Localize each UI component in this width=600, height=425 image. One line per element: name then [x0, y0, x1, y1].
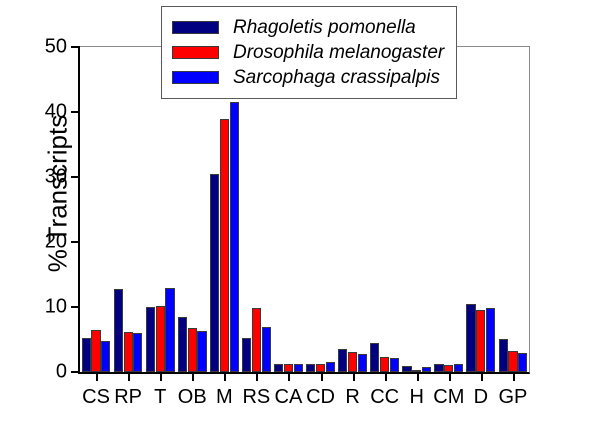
bar [508, 351, 517, 372]
bar [146, 307, 155, 372]
x-tick-label: RS [242, 386, 270, 409]
bar [454, 364, 463, 372]
x-tick-label: CA [275, 386, 303, 409]
bar-chart-figure: % Transcripts 01020304050 CSRPTOBMRSCACD… [0, 0, 600, 425]
x-tick-label: GP [499, 386, 528, 409]
x-tick-mark [288, 372, 290, 381]
bar [284, 364, 293, 372]
bar [338, 349, 347, 372]
legend-color-swatch [172, 21, 219, 34]
x-tick-label: H [410, 386, 424, 409]
y-tick-label: 50 [45, 36, 67, 59]
bar [262, 327, 271, 372]
bar [124, 332, 133, 372]
x-tick-label: T [154, 386, 166, 409]
bar [101, 341, 110, 372]
x-tick-mark [385, 372, 387, 381]
bar-group [499, 47, 528, 372]
bar-group [82, 47, 111, 372]
bar [306, 364, 315, 372]
bar [434, 364, 443, 372]
bar [358, 354, 367, 372]
y-tick-mark [71, 371, 80, 373]
bar [188, 328, 197, 372]
x-tick-label: CC [370, 386, 399, 409]
bar [486, 308, 495, 372]
bar-group [114, 47, 143, 372]
bar-group [466, 47, 495, 372]
x-tick-mark [256, 372, 258, 381]
bar [274, 364, 283, 372]
y-tick-mark [71, 306, 80, 308]
x-tick-mark [192, 372, 194, 381]
x-tick-label: CS [82, 386, 110, 409]
x-tick-mark [449, 372, 451, 381]
bar [294, 364, 303, 372]
x-tick-mark [321, 372, 323, 381]
x-tick-label: RP [114, 386, 142, 409]
bar [499, 339, 508, 372]
bar [348, 352, 357, 372]
x-tick-label: CD [306, 386, 335, 409]
x-tick-label: R [345, 386, 359, 409]
bar [370, 343, 379, 372]
bar [156, 306, 165, 372]
y-tick-label: 10 [45, 296, 67, 319]
bar [114, 289, 123, 372]
x-tick-label: CM [433, 386, 464, 409]
bar [466, 304, 475, 372]
legend-item-label: Drosophila melanogaster [233, 43, 444, 62]
y-tick-mark [71, 176, 80, 178]
bar [91, 330, 100, 372]
bar [133, 333, 142, 372]
legend-color-swatch [172, 46, 219, 59]
bar [242, 338, 251, 372]
legend-color-swatch [172, 71, 219, 84]
bar [165, 288, 174, 372]
y-tick-label: 20 [45, 231, 67, 254]
y-tick-mark [71, 241, 80, 243]
bar [82, 338, 91, 372]
x-tick-label: D [474, 386, 488, 409]
bar [444, 365, 453, 372]
bar [476, 310, 485, 372]
y-tick-mark [71, 111, 80, 113]
y-tick-label: 30 [45, 166, 67, 189]
legend-item: Drosophila melanogaster [172, 40, 444, 65]
bar [326, 362, 335, 372]
legend-item-label: Sarcophaga crassipalpis [233, 68, 440, 87]
bar [210, 174, 219, 372]
bar [412, 370, 421, 372]
x-tick-label: OB [178, 386, 207, 409]
bar [380, 357, 389, 372]
bar [518, 353, 527, 373]
bar [178, 317, 187, 372]
x-tick-mark [513, 372, 515, 381]
x-tick-mark [128, 372, 130, 381]
bar [390, 358, 399, 372]
y-tick-label: 0 [56, 361, 67, 384]
x-tick-mark [160, 372, 162, 381]
bar [220, 119, 229, 373]
y-tick-label: 40 [45, 101, 67, 124]
bar [402, 366, 411, 372]
bar [230, 102, 239, 372]
x-tick-mark [224, 372, 226, 381]
legend-item: Rhagoletis pomonella [172, 15, 444, 40]
chart-legend: Rhagoletis pomonellaDrosophila melanogas… [161, 6, 457, 99]
x-tick-mark [353, 372, 355, 381]
bar [422, 367, 431, 372]
y-tick-mark [71, 46, 80, 48]
x-tick-mark [96, 372, 98, 381]
legend-item: Sarcophaga crassipalpis [172, 65, 444, 90]
bar [197, 331, 206, 372]
bar [252, 308, 261, 372]
bar [316, 364, 325, 372]
x-tick-mark [417, 372, 419, 381]
x-tick-label: M [216, 386, 233, 409]
x-tick-mark [481, 372, 483, 381]
legend-item-label: Rhagoletis pomonella [233, 18, 416, 37]
